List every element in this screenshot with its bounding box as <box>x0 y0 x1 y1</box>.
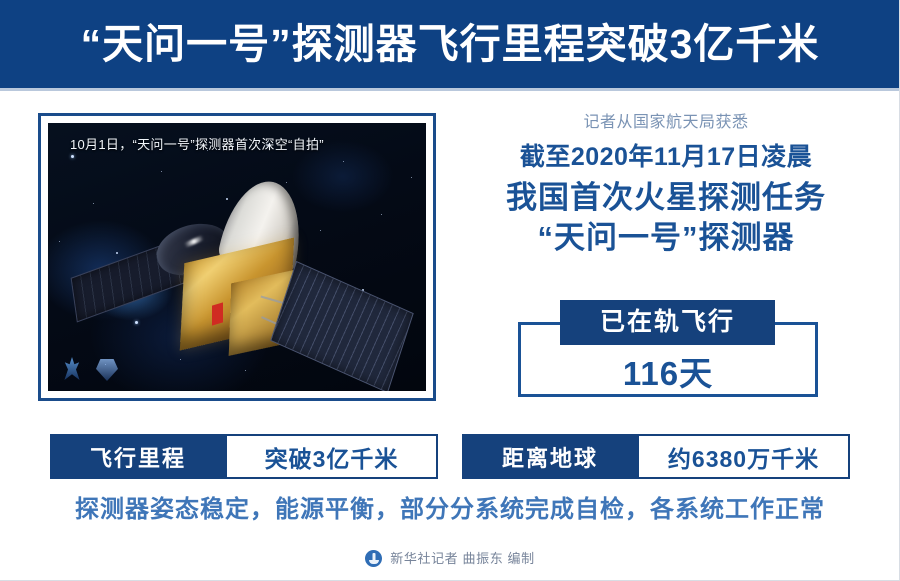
header-banner: “天问一号”探测器飞行里程突破3亿千米 <box>0 0 900 88</box>
mission-info-column: 记者从国家航天局获悉 截至2020年11月17日凌晨 我国首次火星探测任务 “天… <box>460 112 872 258</box>
xinhua-logo-icon <box>365 550 382 567</box>
infographic-poster: “天问一号”探测器飞行里程突破3亿千米 10月1日，“天问一号”探测器首次深空“… <box>0 0 900 581</box>
spacecraft-photo: 10月1日，“天问一号”探测器首次深空“自拍” <box>48 123 426 391</box>
stat-value: 突破3亿千米 <box>224 436 436 477</box>
info-craft-text: “天问一号”探测器 <box>460 219 872 258</box>
credit-text: 新华社记者 曲振东 编制 <box>390 552 534 565</box>
stat-label: 距离地球 <box>464 436 636 477</box>
orbit-duration-value: 116天 <box>518 345 818 397</box>
stat-bar-flight-distance: 飞行里程 突破3亿千米 <box>50 434 438 479</box>
orbit-duration-tab: 已在轨飞行 <box>560 300 775 345</box>
orbit-duration-tab-label: 已在轨飞行 <box>600 310 735 335</box>
info-lead-text: 记者从国家航天局获悉 <box>460 112 872 134</box>
mission-emblem-icon <box>96 359 118 381</box>
page-title: “天问一号”探测器飞行里程突破3亿千米 <box>81 24 820 65</box>
stat-bar-earth-distance: 距离地球 约6380万千米 <box>462 434 850 479</box>
red-marker <box>212 303 223 326</box>
stat-label: 飞行里程 <box>52 436 224 477</box>
spacecraft-photo-frame: 10月1日，“天问一号”探测器首次深空“自拍” <box>38 113 436 401</box>
status-summary-text: 探测器姿态稳定，能源平衡，部分分系统完成自检，各系统工作正常 <box>0 496 900 525</box>
info-mission-text: 我国首次火星探测任务 <box>460 179 872 218</box>
photo-caption: 10月1日，“天问一号”探测器首次深空“自拍” <box>70 137 324 153</box>
stat-value: 约6380万千米 <box>636 436 848 477</box>
cnsa-emblem-icon <box>62 357 82 381</box>
tianwen1-spacecraft-illustration <box>64 173 394 373</box>
photo-logo-group <box>62 357 118 381</box>
credit-line: 新华社记者 曲振东 编制 <box>0 550 900 567</box>
header-divider <box>0 88 900 91</box>
solar-panel-right-icon <box>271 261 415 391</box>
info-date-text: 截至2020年11月17日凌晨 <box>460 142 872 172</box>
